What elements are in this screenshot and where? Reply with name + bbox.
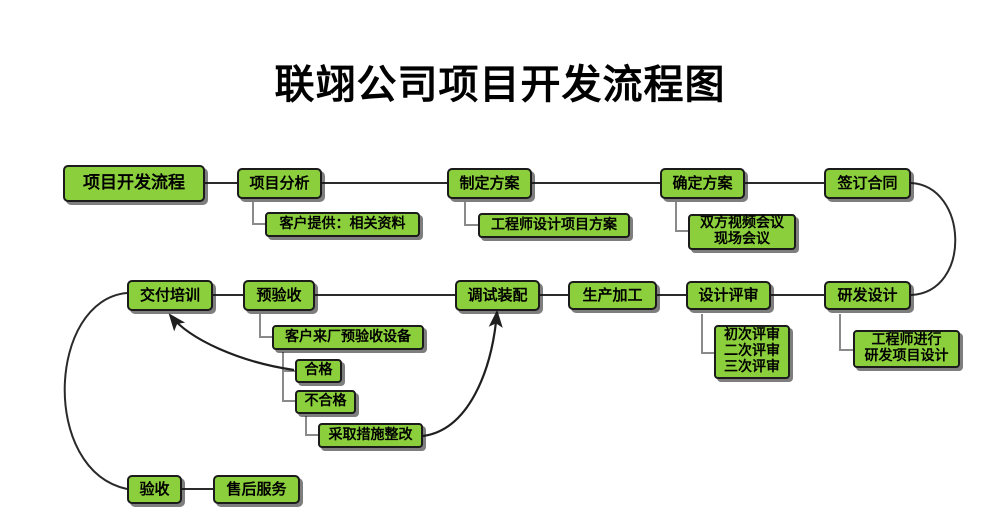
node-delivery-training[interactable]: 交付培训 (127, 280, 213, 311)
node-production-processing[interactable]: 生产加工 (568, 281, 657, 310)
node-confirm-plan[interactable]: 确定方案 (660, 168, 745, 199)
branch-preaccept-fail (283, 352, 295, 401)
wrap-contract-to-rd (911, 183, 955, 295)
arrow-rectify-to-assemble (423, 312, 497, 436)
note-take-corrective-measures[interactable]: 采取措施整改 (318, 423, 423, 448)
page-title: 联翊公司项目开发流程图 (0, 52, 1000, 110)
branch-preaccept-pass (283, 352, 295, 371)
node-sign-contract[interactable]: 签订合同 (824, 168, 911, 199)
note-customer-visits-factory-pre-acceptance[interactable]: 客户来厂预验收设备 (272, 325, 424, 350)
branch-preaccept-note (260, 314, 272, 337)
wrap-delivery-to-acceptance (65, 293, 127, 489)
node-make-plan[interactable]: 制定方案 (447, 168, 532, 199)
branch-fail-rectify (306, 416, 318, 435)
node-acceptance[interactable]: 验收 (127, 475, 182, 504)
node-project-development-process[interactable]: 项目开发流程 (63, 165, 205, 202)
note-customer-provides-materials[interactable]: 客户提供：相关资料 (265, 212, 420, 237)
branch-confirm-note (676, 202, 688, 231)
note-qualified[interactable]: 合格 (295, 359, 342, 383)
branch-analysis-note (253, 202, 265, 224)
node-pre-acceptance[interactable]: 预验收 (243, 280, 315, 311)
branch-rd-note (840, 314, 853, 350)
note-video-and-onsite-meeting[interactable]: 双方视频会议 现场会议 (688, 214, 796, 250)
flowchart-canvas: 联翊公司项目开发流程图 (0, 0, 1000, 532)
node-debug-assembly[interactable]: 调试装配 (455, 280, 540, 311)
note-review-rounds[interactable]: 初次评审 二次评审 三次评审 (714, 325, 790, 379)
node-design-review[interactable]: 设计评审 (686, 281, 771, 310)
note-unqualified[interactable]: 不合格 (295, 390, 356, 414)
node-rd-design[interactable]: 研发设计 (824, 281, 911, 310)
branch-review-note (702, 314, 714, 353)
node-project-analysis[interactable]: 项目分析 (237, 168, 322, 199)
note-engineer-designs-plan[interactable]: 工程师设计项目方案 (478, 213, 630, 238)
branch-plan-note (465, 202, 478, 225)
node-after-sales-service[interactable]: 售后服务 (213, 475, 300, 504)
note-engineer-rd-project-design[interactable]: 工程师进行 研发项目设计 (853, 330, 960, 368)
